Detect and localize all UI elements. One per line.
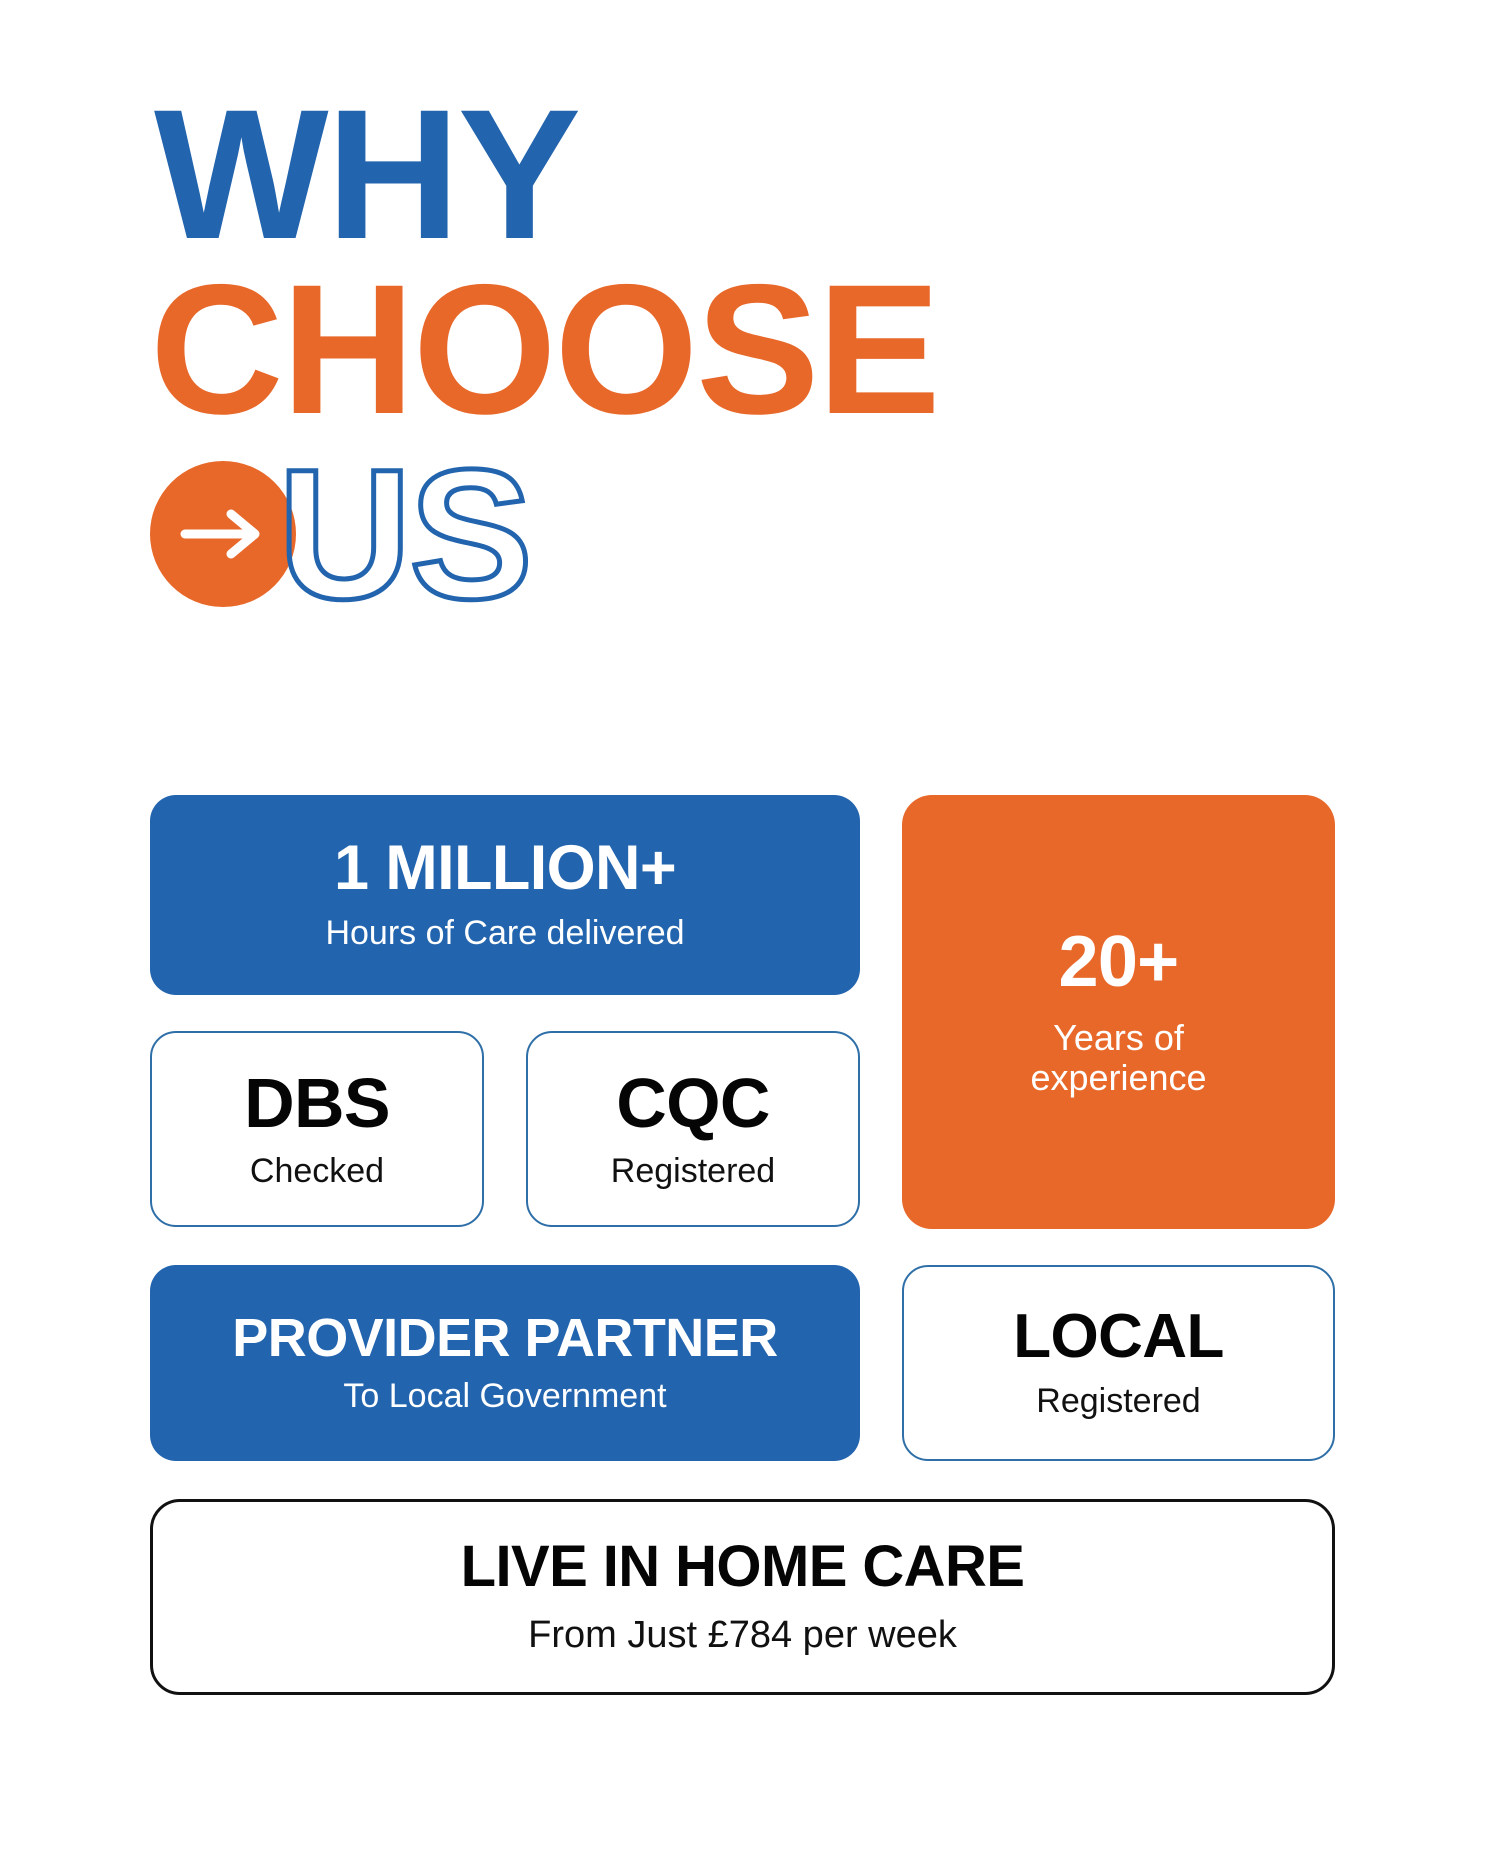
- card-cqc-subtitle: Registered: [611, 1152, 775, 1190]
- headline-line-choose: CHOOSE: [150, 271, 1248, 430]
- arrow-badge: [150, 461, 296, 607]
- card-years-experience-subtitle-line1: Years of: [1030, 1018, 1206, 1058]
- stats-right-column-bottom: LOCAL Registered: [902, 1265, 1335, 1461]
- card-million-hours-subtitle: Hours of Care delivered: [325, 914, 684, 952]
- card-million-hours-title: 1 MILLION+: [334, 837, 676, 900]
- card-million-hours[interactable]: 1 MILLION+ Hours of Care delivered: [150, 795, 860, 995]
- headline-line-why: WHY: [154, 96, 1248, 255]
- stats-right-column: 20+ Years of experience: [902, 795, 1335, 1229]
- card-dbs[interactable]: DBS Checked: [150, 1031, 484, 1227]
- card-local-title: LOCAL: [1013, 1306, 1223, 1368]
- stats-left-column: 1 MILLION+ Hours of Care delivered DBS C…: [150, 795, 860, 1229]
- card-local-subtitle: Registered: [1036, 1382, 1200, 1420]
- poster-root: WHY CHOOSE US 1 MILLION+ Hours of Care d…: [0, 0, 1485, 1856]
- card-live-in-home-care-subtitle: From Just £784 per week: [528, 1614, 957, 1657]
- stats-row-bottom: PROVIDER PARTNER To Local Government LOC…: [150, 1265, 1335, 1461]
- headline-line-us-row: US: [150, 452, 1248, 615]
- card-pair-dbs-cqc: DBS Checked CQC Registered: [150, 1031, 860, 1227]
- card-live-in-home-care[interactable]: LIVE IN HOME CARE From Just £784 per wee…: [150, 1499, 1335, 1695]
- card-cqc-title: CQC: [616, 1068, 769, 1138]
- card-dbs-subtitle: Checked: [250, 1152, 384, 1190]
- stats-left-column-bottom: PROVIDER PARTNER To Local Government: [150, 1265, 860, 1461]
- stats-row-top: 1 MILLION+ Hours of Care delivered DBS C…: [150, 795, 1335, 1229]
- headline-line-us: US: [278, 452, 531, 615]
- card-years-experience-subtitle-line2: experience: [1030, 1058, 1206, 1098]
- card-years-experience[interactable]: 20+ Years of experience: [902, 795, 1335, 1229]
- card-dbs-title: DBS: [244, 1068, 390, 1138]
- arrow-right-icon: [177, 504, 269, 564]
- card-local[interactable]: LOCAL Registered: [902, 1265, 1335, 1461]
- card-years-experience-title: 20+: [1059, 926, 1179, 998]
- card-provider-partner[interactable]: PROVIDER PARTNER To Local Government: [150, 1265, 860, 1461]
- card-provider-partner-subtitle: To Local Government: [343, 1377, 666, 1415]
- headline-block: WHY CHOOSE US: [148, 96, 1248, 615]
- stats-grid: 1 MILLION+ Hours of Care delivered DBS C…: [150, 795, 1335, 1695]
- card-live-in-home-care-title: LIVE IN HOME CARE: [461, 1538, 1025, 1596]
- card-cqc[interactable]: CQC Registered: [526, 1031, 860, 1227]
- card-years-experience-subtitle: Years of experience: [1030, 1018, 1206, 1099]
- card-provider-partner-title: PROVIDER PARTNER: [232, 1311, 777, 1365]
